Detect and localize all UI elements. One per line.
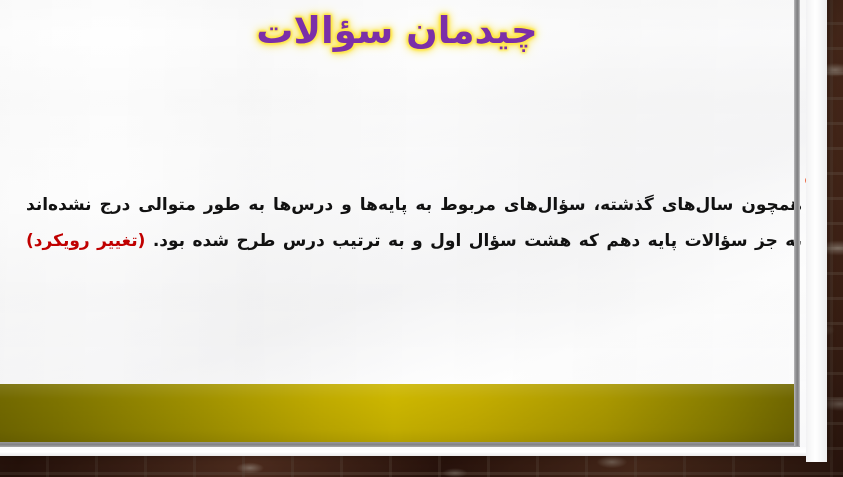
gold-footer-band	[0, 384, 800, 442]
bullet-text-accent: (تغییر رویکرد)	[26, 231, 145, 251]
presentation-slide: چیدمان سؤالات همچون سال‌های گذشته، سؤال‌…	[0, 0, 843, 477]
panel-outer-margin-strip	[806, 0, 827, 462]
gold-band-sheen	[0, 384, 800, 442]
panel-right-rule	[794, 0, 800, 446]
slide-title: چیدمان سؤالات	[0, 8, 800, 54]
bullet-list: همچون سال‌های گذشته، سؤال‌های مربوط به پ…	[26, 170, 802, 276]
bullet-paragraph: همچون سال‌های گذشته، سؤال‌های مربوط به پ…	[26, 187, 802, 259]
panel-bottom-margin-strip	[0, 447, 821, 456]
slide-content-panel: چیدمان سؤالات همچون سال‌های گذشته، سؤال‌…	[0, 0, 826, 454]
